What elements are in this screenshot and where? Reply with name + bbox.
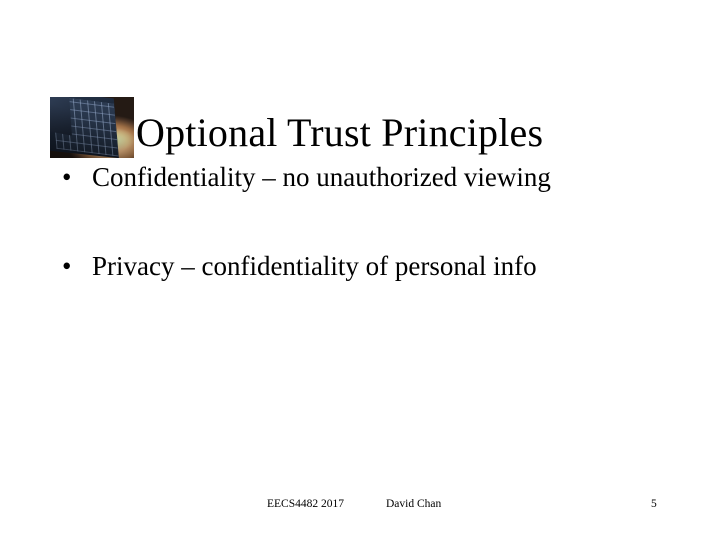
photo-shadow-layer [50, 97, 134, 158]
list-item-text: Confidentiality – no unauthorized viewin… [92, 162, 551, 192]
bullet-list: • Confidentiality – no unauthorized view… [56, 160, 676, 283]
bullet-point-icon: • [62, 160, 71, 194]
page-title: Optional Trust Principles [136, 109, 543, 157]
bullet-point-icon: • [62, 249, 71, 283]
slide-canvas: Optional Trust Principles • Confidential… [0, 0, 720, 540]
slide-footer: EECS4482 2017 David Chan 5 [0, 496, 720, 518]
footer-author-label: David Chan [386, 496, 441, 512]
page-number: 5 [651, 496, 657, 512]
list-item: • Confidentiality – no unauthorized view… [56, 160, 676, 194]
footer-course-label: EECS4482 2017 [267, 496, 344, 512]
list-item: • Privacy – confidentiality of personal … [56, 249, 676, 283]
slide-title-row: Optional Trust Principles [0, 45, 720, 125]
list-item-text: Privacy – confidentiality of personal in… [92, 251, 537, 281]
laptop-keyboard-cd-photo [50, 97, 134, 158]
